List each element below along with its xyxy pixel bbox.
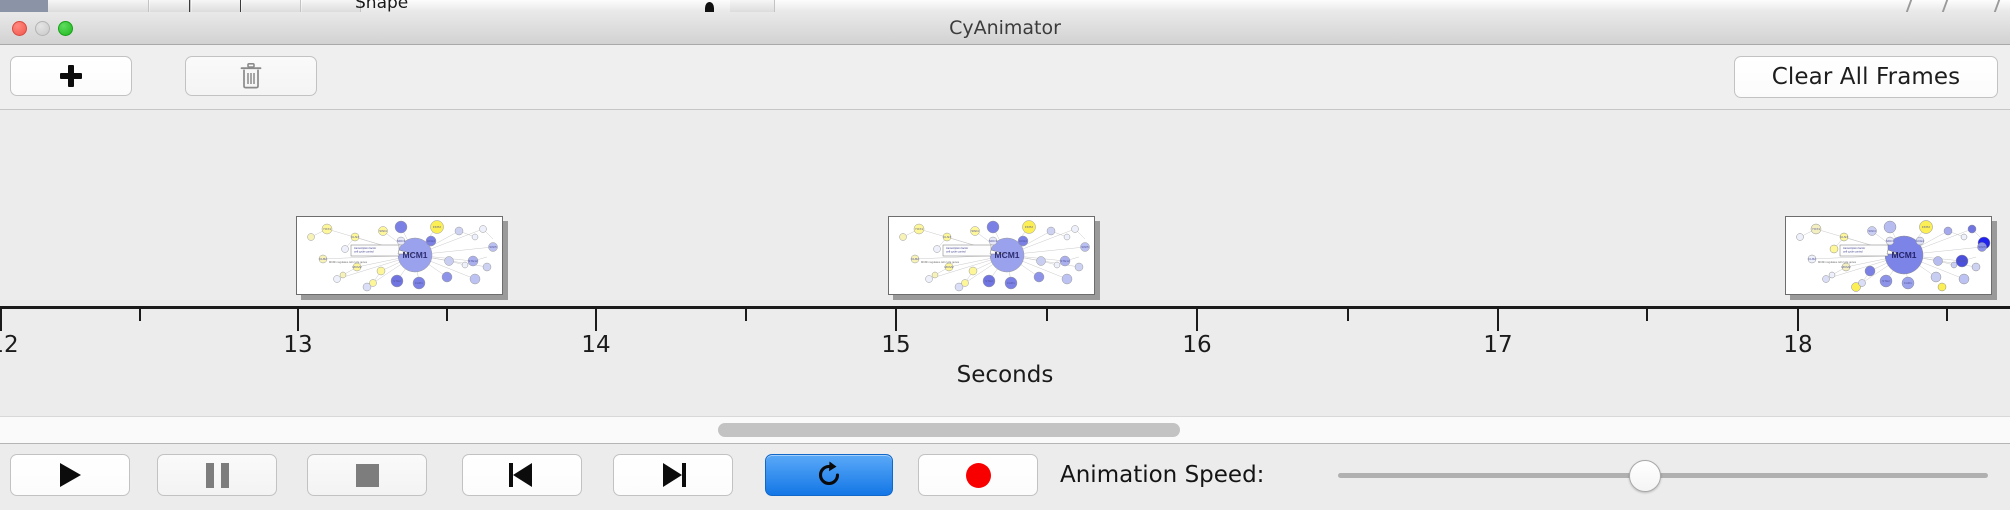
axis-tick-minor: [139, 309, 141, 321]
axis-label-15: 15: [881, 332, 910, 358]
animation-speed-label: Animation Speed:: [1060, 454, 1264, 496]
axis-tick-minor: [745, 309, 747, 321]
axis-tick-minor: [1646, 309, 1648, 321]
svg-text:FKH2: FKH2: [1025, 225, 1033, 229]
svg-text:YOX1: YOX1: [323, 227, 332, 231]
background-window-accent: [0, 0, 48, 12]
svg-text:MCM1 regulates cell cycle gene: MCM1 regulates cell cycle genes: [921, 260, 960, 264]
axis-tick-major: [1497, 309, 1499, 331]
axis-tick-major: [895, 309, 897, 331]
svg-text:CLN3: CLN3: [943, 235, 951, 239]
svg-text:SWI5: SWI5: [1978, 245, 1986, 249]
timeline-frame-thumbnail[interactable]: YOX1CLN3 SWI4FKH2 NDD1ACE2 SWI5STE12 FAR…: [1785, 216, 1997, 300]
axis-tick-major: [595, 309, 597, 331]
skip-next-icon: [660, 463, 686, 487]
svg-text:FKH2: FKH2: [433, 225, 441, 229]
stop-icon: [356, 464, 379, 487]
network-thumbnail: YOX1CLN3 SWI4FKH2 NDD1ACE2 SWI5STE12 FAR…: [1785, 216, 1992, 295]
background-window-divider: [1906, 0, 1912, 12]
svg-text:STE2: STE2: [1882, 279, 1890, 283]
pause-button[interactable]: [157, 454, 277, 496]
svg-text:FAR1: FAR1: [1904, 281, 1912, 285]
record-icon: [966, 463, 991, 488]
svg-text:transcription factor: transcription factor: [354, 246, 376, 250]
svg-text:CLB2: CLB2: [319, 257, 327, 261]
animation-speed-slider[interactable]: [1338, 454, 1988, 496]
svg-text:transcription factor: transcription factor: [946, 246, 968, 250]
svg-text:STE12: STE12: [468, 259, 478, 263]
thumbnail-hub-label: MCM1: [994, 250, 1019, 260]
background-window-divider: [1994, 0, 2000, 12]
timeline-frame-thumbnail[interactable]: YOX1CLN3 SWI4FKH2 NDD1ACE2 SWI5STE12 FAR…: [296, 216, 508, 300]
slider-track[interactable]: [1338, 473, 1988, 478]
svg-text:YOX1: YOX1: [915, 227, 924, 231]
axis-tick-minor: [1347, 309, 1349, 321]
loop-button[interactable]: [765, 454, 893, 496]
network-thumbnail: YOX1CLN3 SWI4FKH2 NDD1ACE2 SWI5STE12 FAR…: [296, 216, 503, 295]
clear-all-frames-button[interactable]: Clear All Frames: [1734, 56, 1998, 98]
skip-previous-icon: [509, 463, 535, 487]
slider-thumb[interactable]: [1629, 460, 1661, 492]
background-window-segment: [242, 0, 301, 12]
svg-text:FKH2: FKH2: [1922, 225, 1930, 229]
background-window-segment: [150, 0, 191, 12]
axis-tick-major: [0, 309, 2, 331]
svg-text:FAR1: FAR1: [1007, 281, 1015, 285]
axis-label-12: 12: [0, 332, 19, 358]
axis-tick-major: [1797, 309, 1799, 331]
svg-text:SWI4: SWI4: [379, 229, 387, 233]
svg-text:MCM1 regulates cell cycle gene: MCM1 regulates cell cycle genes: [329, 260, 368, 264]
svg-text:SWI4: SWI4: [1868, 229, 1876, 233]
background-window-divider: [189, 0, 190, 12]
timeline-axis-line: [0, 306, 2010, 309]
svg-text:transcription factor: transcription factor: [1843, 246, 1865, 250]
svg-text:ACE2: ACE2: [427, 239, 435, 243]
axis-label-13: 13: [283, 332, 312, 358]
svg-text:SWI4: SWI4: [971, 229, 979, 233]
play-button[interactable]: [10, 454, 130, 496]
play-icon: [60, 463, 81, 487]
axis-tick-major: [1196, 309, 1198, 331]
svg-text:MCM2: MCM2: [944, 265, 953, 269]
axis-tick-minor: [1946, 309, 1948, 321]
network-thumbnail: YOX1CLN3 SWI4FKH2 NDD1ACE2 SWI5STE12 FAR…: [888, 216, 1095, 295]
svg-text:ACE2: ACE2: [1019, 239, 1027, 243]
svg-text:CLB2: CLB2: [911, 257, 919, 261]
delete-frame-button[interactable]: [185, 56, 317, 96]
svg-text:NDD1: NDD1: [397, 239, 406, 243]
svg-text:NDD1: NDD1: [989, 239, 998, 243]
plus-icon: [59, 64, 83, 88]
thumbnail-hub-label: MCM1: [402, 250, 427, 260]
stop-button[interactable]: [307, 454, 427, 496]
svg-text:STE12: STE12: [1060, 259, 1070, 263]
axis-label-18: 18: [1783, 332, 1812, 358]
svg-text:STE2: STE2: [393, 279, 401, 283]
svg-text:SWI5: SWI5: [489, 245, 497, 249]
background-window-segment: [48, 0, 149, 12]
timeline-frame-thumbnail[interactable]: YOX1CLN3 SWI4FKH2 NDD1ACE2 SWI5STE12 FAR…: [888, 216, 1100, 300]
pause-icon: [206, 463, 229, 488]
playback-control-bar: Animation Speed:: [0, 444, 2010, 510]
frame-toolbar: Clear All Frames: [0, 45, 2010, 110]
axis-tick-major: [297, 309, 299, 331]
background-window-segment: [192, 0, 241, 12]
trash-icon: [239, 63, 263, 89]
svg-text:STE2: STE2: [985, 279, 993, 283]
svg-text:CLN3: CLN3: [1840, 235, 1848, 239]
svg-text:SWI5: SWI5: [1081, 245, 1089, 249]
svg-text:CLN3: CLN3: [351, 235, 359, 239]
svg-text:FAR1: FAR1: [415, 281, 423, 285]
svg-text:MCM1 regulates cell cycle gene: MCM1 regulates cell cycle genes: [1818, 260, 1857, 264]
axis-tick-minor: [446, 309, 448, 321]
svg-text:STE12: STE12: [1957, 259, 1967, 263]
svg-text:MCM2: MCM2: [352, 265, 361, 269]
timeline-panel[interactable]: YOX1CLN3 SWI4FKH2 NDD1ACE2 SWI5STE12 FAR…: [0, 110, 2010, 416]
svg-text:ACE2: ACE2: [1916, 239, 1924, 243]
svg-text:cell cycle control: cell cycle control: [354, 250, 374, 254]
window-titlebar: CyAnimator: [0, 12, 2010, 45]
svg-text:MCM2: MCM2: [1841, 265, 1850, 269]
axis-title: Seconds: [0, 362, 2010, 388]
svg-text:NDD1: NDD1: [1886, 239, 1895, 243]
timeline-scrollbar[interactable]: [0, 416, 2010, 444]
add-frame-button[interactable]: [10, 56, 132, 96]
window-title: CyAnimator: [0, 12, 2010, 45]
previous-frame-button[interactable]: [462, 454, 582, 496]
next-frame-button[interactable]: [613, 454, 733, 496]
background-window-divider: [240, 0, 241, 12]
axis-label-14: 14: [581, 332, 610, 358]
scrollbar-thumb[interactable]: [718, 423, 1180, 437]
background-window-segment: [730, 0, 775, 12]
axis-label-17: 17: [1483, 332, 1512, 358]
svg-text:CLB2: CLB2: [1808, 257, 1816, 261]
svg-text:cell cycle control: cell cycle control: [1843, 250, 1863, 254]
svg-text:cell cycle control: cell cycle control: [946, 250, 966, 254]
axis-tick-minor: [1046, 309, 1048, 321]
background-window-divider: [1942, 0, 1948, 12]
axis-label-16: 16: [1182, 332, 1211, 358]
record-button[interactable]: [918, 454, 1038, 496]
background-window-segment: [302, 0, 361, 12]
loop-icon: [814, 460, 844, 490]
thumbnail-hub-label: MCM1: [1891, 250, 1916, 260]
svg-text:YOX1: YOX1: [1812, 227, 1821, 231]
